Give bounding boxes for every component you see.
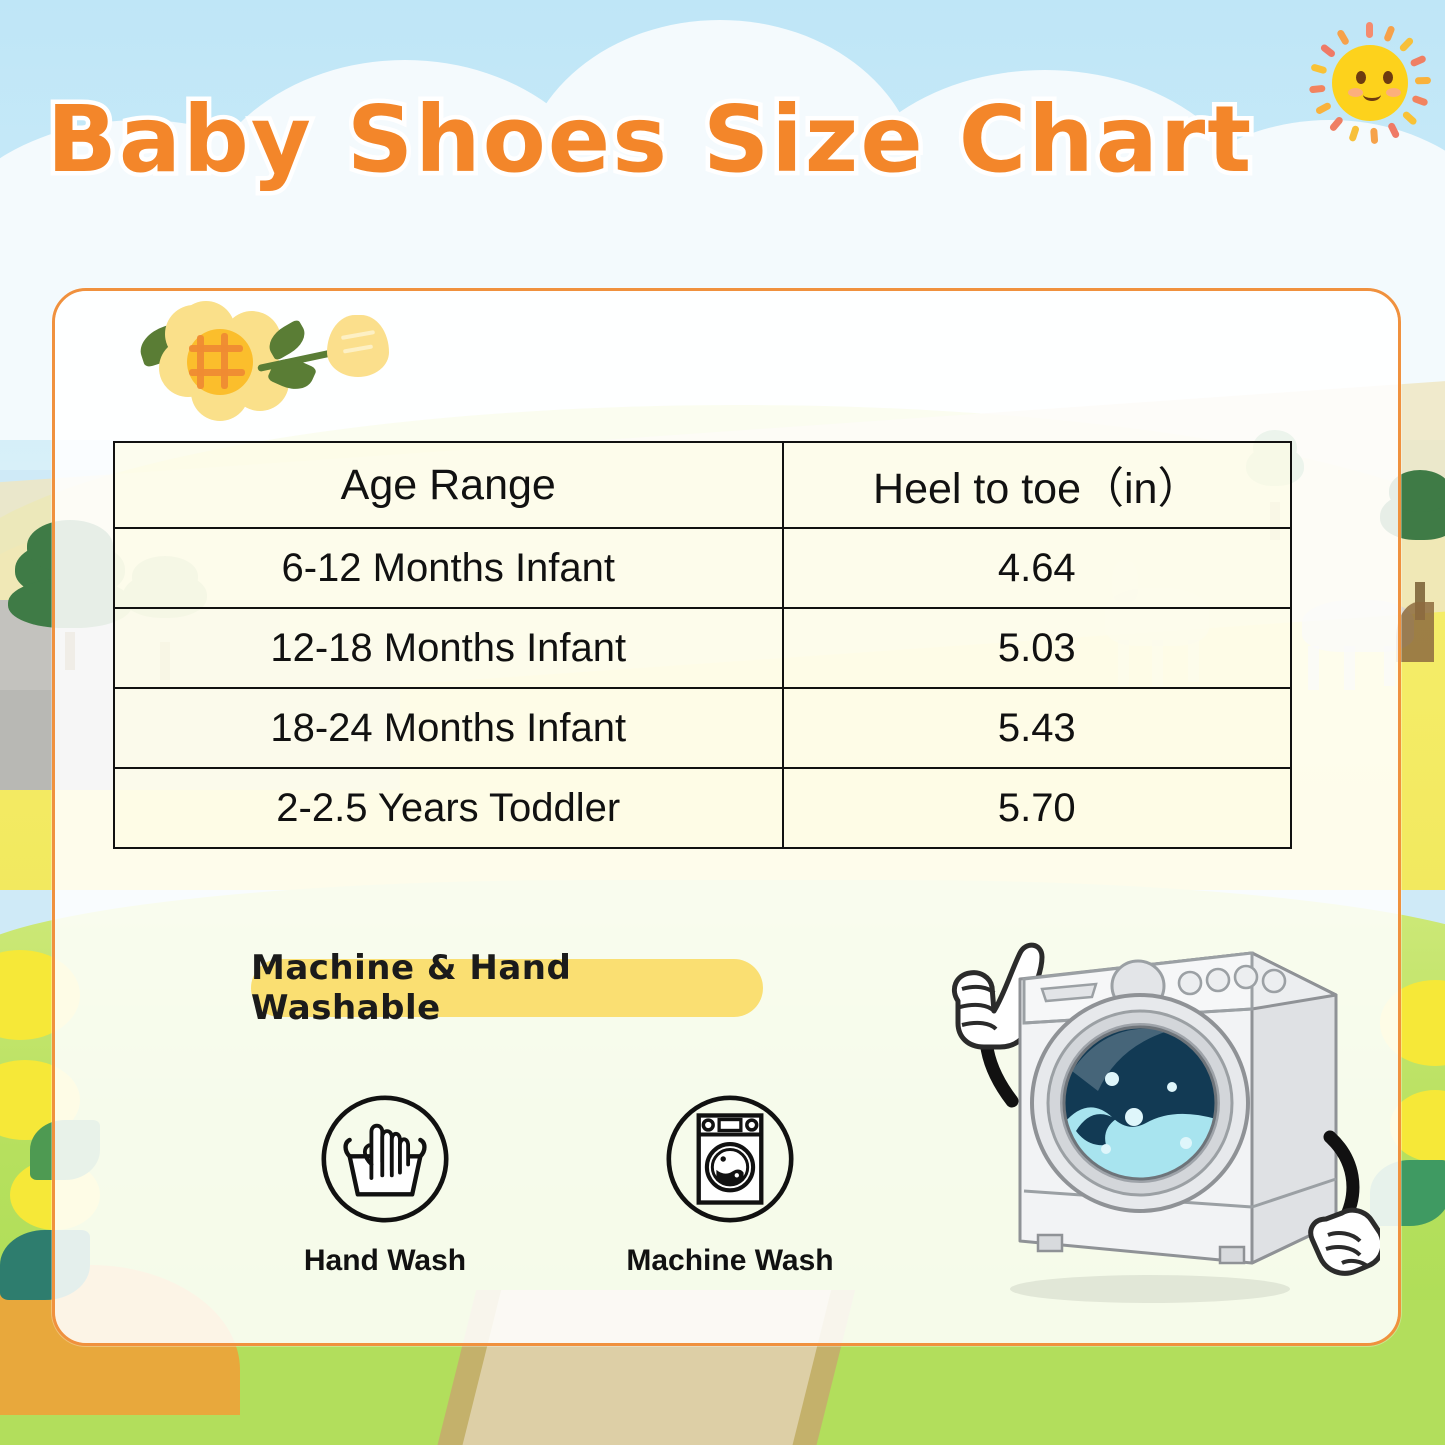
washing-machine-mascot-thumbs-up-icon	[900, 891, 1380, 1311]
table-header-row: Age Range Heel to toe（in）	[114, 442, 1291, 528]
cell-heel-to-toe: 5.03	[783, 608, 1291, 688]
cell-heel-to-toe: 5.43	[783, 688, 1291, 768]
content-card: Age Range Heel to toe（in） 6-12 Months In…	[52, 288, 1401, 1346]
cell-age-range: 18-24 Months Infant	[114, 688, 783, 768]
care-item-machine-wash: Machine Wash	[580, 1091, 880, 1278]
size-chart-graphic: Baby Shoes Size Chart	[0, 0, 1445, 1445]
care-icons-row: Hand Wash Machine Wash	[205, 1091, 905, 1291]
hand-wash-icon	[317, 1091, 453, 1227]
care-label-hand-wash: Hand Wash	[235, 1244, 535, 1278]
column-header-heel-to-toe: Heel to toe（in）	[783, 442, 1291, 528]
cell-heel-to-toe: 4.64	[783, 528, 1291, 608]
page-title: Baby Shoes Size Chart	[0, 86, 1300, 193]
daisy-flower-icon	[131, 301, 391, 411]
table-row: 12-18 Months Infant 5.03	[114, 608, 1291, 688]
washable-badge-label: Machine & Hand Washable	[251, 948, 763, 1028]
sun-smiling-icon	[1305, 18, 1435, 148]
table-row: 2-2.5 Years Toddler 5.70	[114, 768, 1291, 848]
washable-badge: Machine & Hand Washable	[251, 959, 763, 1017]
cell-age-range: 2-2.5 Years Toddler	[114, 768, 783, 848]
care-label-machine-wash: Machine Wash	[580, 1244, 880, 1278]
machine-wash-icon	[662, 1091, 798, 1227]
cell-age-range: 6-12 Months Infant	[114, 528, 783, 608]
size-chart-table: Age Range Heel to toe（in） 6-12 Months In…	[113, 441, 1292, 849]
table-row: 18-24 Months Infant 5.43	[114, 688, 1291, 768]
mascot-svg	[900, 891, 1380, 1311]
table-row: 6-12 Months Infant 4.64	[114, 528, 1291, 608]
care-item-hand-wash: Hand Wash	[235, 1091, 535, 1278]
cell-age-range: 12-18 Months Infant	[114, 608, 783, 688]
cell-heel-to-toe: 5.70	[783, 768, 1291, 848]
column-header-age-range: Age Range	[114, 442, 783, 528]
